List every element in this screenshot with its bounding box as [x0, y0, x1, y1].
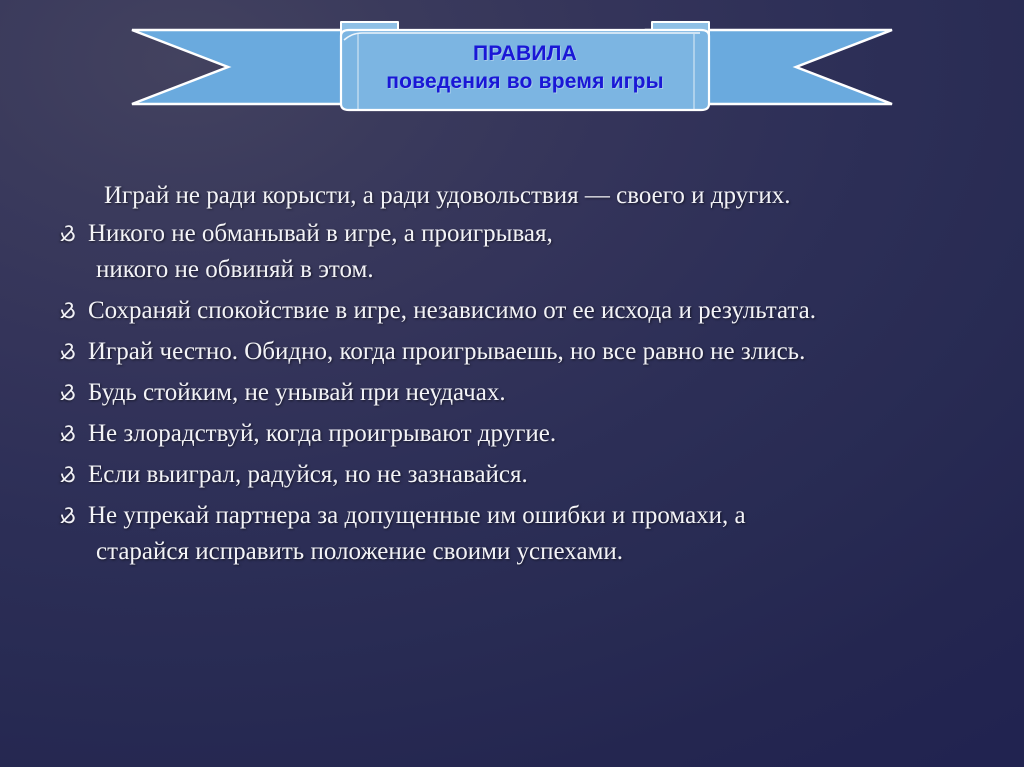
list-item-line1: Не упрекай партнера за допущенные им оши… [88, 502, 996, 529]
list-item-line1: Будь стойким, не унывай при неудачах. [88, 379, 996, 406]
list-item: & Сохраняй спокойствие в игре, независим… [46, 297, 996, 324]
list-item-line1: Не злорадствуй, когда проигрывают другие… [88, 420, 996, 447]
list-item: & Не упрекай партнера за допущенные им о… [46, 502, 996, 565]
list-item-line2: старайся исправить положение своими успе… [88, 538, 996, 565]
list-item-line1: Если выиграл, радуйся, но не зазнавайся. [88, 461, 996, 488]
ampersand-bullet-icon: & [54, 300, 76, 323]
ampersand-bullet-icon: & [54, 423, 76, 446]
list-item: & Если выиграл, радуйся, но не зазнавайс… [46, 461, 996, 488]
list-item-line2: никого не обвиняй в этом. [88, 256, 996, 283]
presentation-slide: ПРАВИЛА поведения во время игры Играй не… [0, 0, 1024, 767]
ampersand-bullet-icon: & [54, 341, 76, 364]
ampersand-bullet-icon: & [54, 223, 76, 246]
rules-list: & Никого не обманывай в игре, а проигрыв… [46, 220, 996, 565]
ampersand-bullet-icon: & [54, 382, 76, 405]
list-item: & Будь стойким, не унывай при неудачах. [46, 379, 996, 406]
rules-content: Играй не ради корысти, а ради удовольств… [46, 183, 996, 579]
list-item-line1: Сохраняй спокойствие в игре, независимо … [88, 297, 996, 324]
list-item-line1: Никого не обманывай в игре, а проигрывая… [88, 220, 996, 247]
list-item: & Никого не обманывай в игре, а проигрыв… [46, 220, 996, 283]
list-item: & Играй честно. Обидно, когда проигрывае… [46, 338, 996, 365]
list-item-line1: Играй честно. Обидно, когда проигрываешь… [88, 338, 996, 365]
list-item: & Не злорадствуй, когда проигрывают друг… [46, 420, 996, 447]
ribbon-center-panel [341, 30, 709, 110]
ampersand-bullet-icon: & [54, 505, 76, 528]
intro-paragraph: Играй не ради корысти, а ради удовольств… [46, 183, 996, 208]
ampersand-bullet-icon: & [54, 464, 76, 487]
ribbon-banner: ПРАВИЛА поведения во время игры [0, 0, 1024, 128]
